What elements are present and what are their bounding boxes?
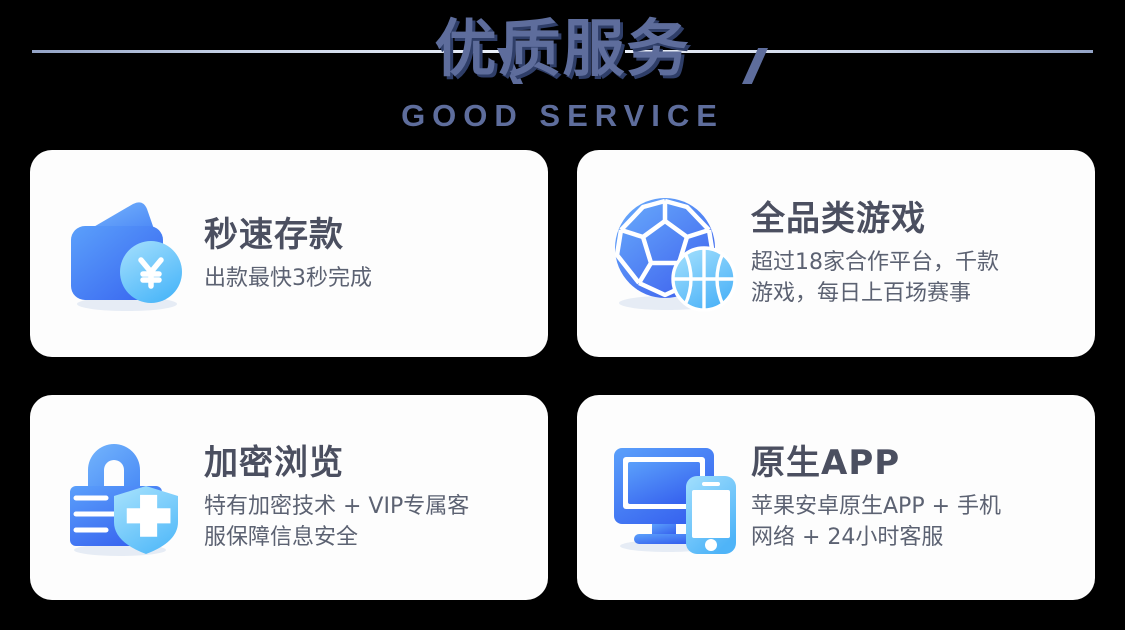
- service-banner: 优质服务 GOOD SERVICE: [0, 0, 1125, 630]
- page-subtitle: GOOD SERVICE: [0, 99, 1125, 133]
- feature-card-text: 秒速存款 出款最快3秒完成: [196, 214, 522, 294]
- feature-card-games[interactable]: 全品类游戏 超过18家合作平台，千款 游戏，每日上百场赛事: [577, 150, 1095, 357]
- feature-card-title: 全品类游戏: [751, 198, 1069, 240]
- wallet-yen-icon: [56, 189, 196, 319]
- feature-card-text: 加密浏览 特有加密技术 + VIP专属客 服保障信息安全: [196, 442, 522, 553]
- subtitle-line: 苹果安卓原生APP + 手机: [751, 491, 1069, 522]
- subtitle-line: 网络 + 24小时客服: [751, 522, 1069, 553]
- soccer-basketball-icon: [603, 189, 743, 319]
- lock-shield-icon: [56, 433, 196, 563]
- page-title: 优质服务: [0, 12, 1125, 86]
- feature-card-title: 秒速存款: [204, 214, 522, 256]
- feature-card-encryption[interactable]: 加密浏览 特有加密技术 + VIP专属客 服保障信息安全: [30, 395, 548, 600]
- feature-card-subtitle: 超过18家合作平台，千款 游戏，每日上百场赛事: [751, 247, 1069, 309]
- feature-card-text: 全品类游戏 超过18家合作平台，千款 游戏，每日上百场赛事: [743, 198, 1069, 309]
- subtitle-line: 特有加密技术 + VIP专属客: [204, 491, 522, 522]
- subtitle-line: 出款最快3秒完成: [204, 263, 522, 294]
- monitor-phone-icon: [603, 433, 743, 563]
- feature-card-subtitle: 特有加密技术 + VIP专属客 服保障信息安全: [204, 491, 522, 553]
- subtitle-line: 游戏，每日上百场赛事: [751, 278, 1069, 309]
- feature-card-title: 加密浏览: [204, 442, 522, 484]
- feature-card-subtitle: 苹果安卓原生APP + 手机 网络 + 24小时客服: [751, 491, 1069, 553]
- feature-card-text: 原生APP 苹果安卓原生APP + 手机 网络 + 24小时客服: [743, 442, 1069, 553]
- subtitle-line: 服保障信息安全: [204, 522, 522, 553]
- feature-card-subtitle: 出款最快3秒完成: [204, 263, 522, 294]
- banner-header: 优质服务 GOOD SERVICE: [0, 0, 1125, 140]
- feature-card-title: 原生APP: [751, 442, 1069, 484]
- feature-card-deposit[interactable]: 秒速存款 出款最快3秒完成: [30, 150, 548, 357]
- subtitle-line: 超过18家合作平台，千款: [751, 247, 1069, 278]
- feature-card-native-app[interactable]: 原生APP 苹果安卓原生APP + 手机 网络 + 24小时客服: [577, 395, 1095, 600]
- feature-card-grid: 秒速存款 出款最快3秒完成: [30, 150, 1095, 600]
